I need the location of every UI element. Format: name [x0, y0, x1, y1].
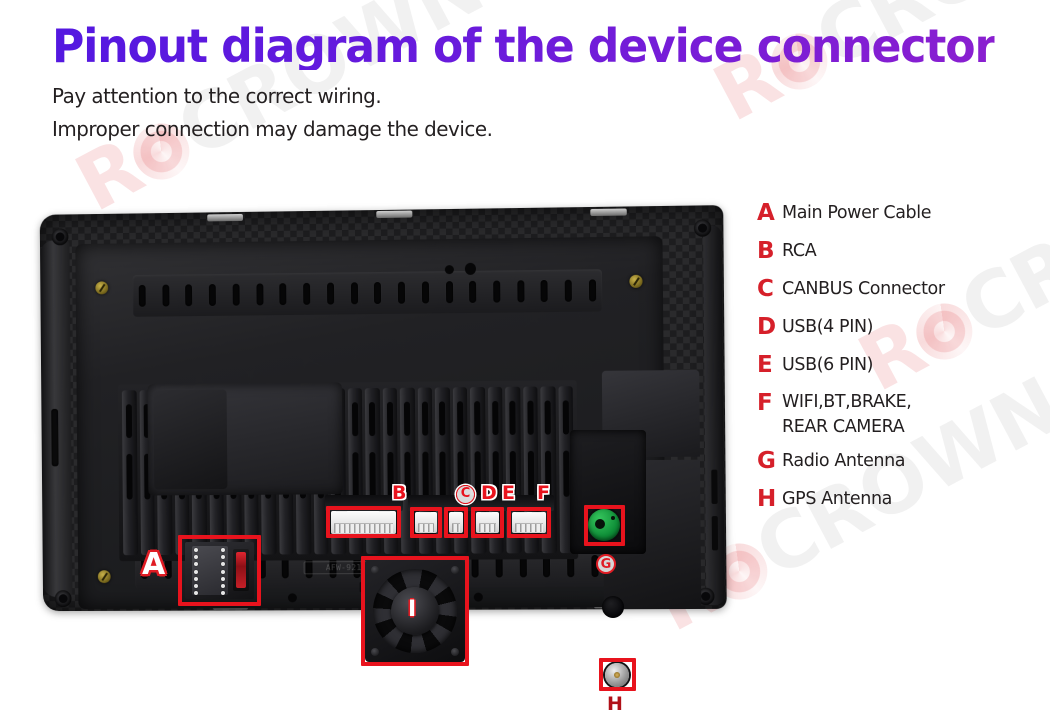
callout-label-h: H [607, 695, 623, 714]
callout-box-e [471, 507, 504, 538]
bezel-right-edge [703, 225, 725, 605]
callout-label-g: G [596, 554, 616, 574]
legend-key-e: E [757, 348, 782, 382]
vent-slot [398, 282, 405, 304]
vent-slot [256, 283, 263, 305]
legend-label-f-line1: WIFI,BT,BRAKE, [782, 392, 911, 412]
vent-strip-top [133, 269, 603, 317]
main-power-housing-recess [153, 389, 227, 489]
vent-slot [517, 280, 524, 302]
legend-label-f: WIFI,BT,BRAKE, REAR CAMERA [782, 386, 911, 440]
legend-item-a: A Main Power Cable [757, 196, 1047, 230]
callout-label-a: A [142, 550, 165, 580]
device-rear-photo: ▸ [34, 196, 734, 618]
callout-box-d [444, 507, 468, 538]
bezel-right-slot-upper [711, 470, 717, 504]
bezel-left-slot [51, 409, 58, 467]
vent-slot [445, 281, 452, 303]
callout-box-h [599, 658, 636, 691]
legend-label-b: RCA [782, 234, 816, 268]
legend-key-f: F [757, 386, 782, 420]
vent-slot [139, 285, 146, 307]
bezel-clip-tab [376, 211, 412, 219]
callout-label-c: C [456, 485, 475, 504]
legend-label-d: USB(4 PIN) [782, 310, 873, 344]
legend-item-h: H GPS Antenna [757, 482, 1047, 516]
vent-slot [493, 281, 500, 303]
vent-slot [209, 284, 216, 306]
bezel-right-slot-lower [712, 516, 718, 550]
vent-slot [186, 284, 193, 306]
callout-label-i: I [408, 599, 416, 621]
page-title: Pinout diagram of the device connector [52, 22, 995, 70]
bezel-left-rail [40, 240, 73, 597]
chassis-hole [465, 263, 476, 275]
chassis-screw [98, 570, 111, 583]
legend-label-e: USB(6 PIN) [782, 348, 873, 382]
chassis-hole [445, 265, 454, 274]
subtitle-line-1: Pay attention to the correct wiring. [52, 84, 1005, 108]
legend-item-b: B RCA [757, 234, 1047, 268]
vent-slot [162, 285, 169, 307]
main-power-housing [147, 382, 342, 495]
legend-label-c: CANBUS Connector [782, 272, 945, 306]
legend-item-d: D USB(4 PIN) [757, 310, 1047, 344]
legend-key-c: C [757, 272, 782, 306]
bezel-pivot-boss [52, 228, 69, 245]
legend-label-f-line2: REAR CAMERA [782, 415, 911, 440]
vent-slot [422, 281, 429, 303]
chassis-screw [95, 281, 108, 294]
legend-label-a: Main Power Cable [782, 196, 931, 230]
legend-label-g: Radio Antenna [782, 444, 905, 478]
legend-key-d: D [757, 310, 782, 344]
vent-slot [565, 280, 572, 302]
legend-item-f: F WIFI,BT,BRAKE, REAR CAMERA [757, 386, 1047, 440]
legend-key-g: G [757, 444, 782, 478]
legend-label-h: GPS Antenna [782, 482, 892, 516]
callout-box-g [584, 505, 625, 546]
vent-slot [351, 282, 358, 304]
vent-slot [327, 283, 334, 305]
callout-label-f: F [537, 484, 550, 503]
legend-key-b: B [757, 234, 782, 268]
vent-slot [541, 280, 548, 302]
vent-slot [589, 279, 596, 301]
vent-slot [233, 284, 240, 306]
chassis-hole [474, 593, 483, 602]
legend-key-a: A [757, 196, 782, 230]
vent-slot [303, 283, 310, 305]
bezel-clip-tab [590, 208, 626, 216]
callout-box-c [410, 507, 442, 538]
callout-label-e: E [502, 484, 515, 503]
legend-item-g: G Radio Antenna [757, 444, 1047, 478]
chassis-screw [629, 275, 642, 288]
callout-label-d: D [481, 484, 497, 503]
vent-slot [374, 282, 381, 304]
subtitle-line-2: Improper connection may damage the devic… [52, 117, 1005, 141]
legend-item-c: C CANBUS Connector [757, 272, 1047, 306]
legend-list: A Main Power Cable B RCA C CANBUS Connec… [757, 196, 1047, 520]
callout-box-b [326, 506, 401, 538]
unlabeled-port [602, 596, 624, 618]
bezel-clip-tab [207, 214, 243, 221]
bezel-pivot-boss [55, 590, 72, 607]
legend-key-h: H [757, 482, 782, 516]
callout-label-b: B [392, 484, 406, 503]
heading-block: Pinout diagram of the device connector P… [52, 22, 1034, 141]
callout-box-a [178, 535, 261, 606]
heatsink-fin [122, 390, 138, 555]
chassis-hole [288, 593, 297, 602]
legend-item-e: E USB(6 PIN) [757, 348, 1047, 382]
callout-box-f [507, 507, 551, 538]
vent-slot [469, 281, 476, 303]
vent-slot [280, 283, 287, 305]
